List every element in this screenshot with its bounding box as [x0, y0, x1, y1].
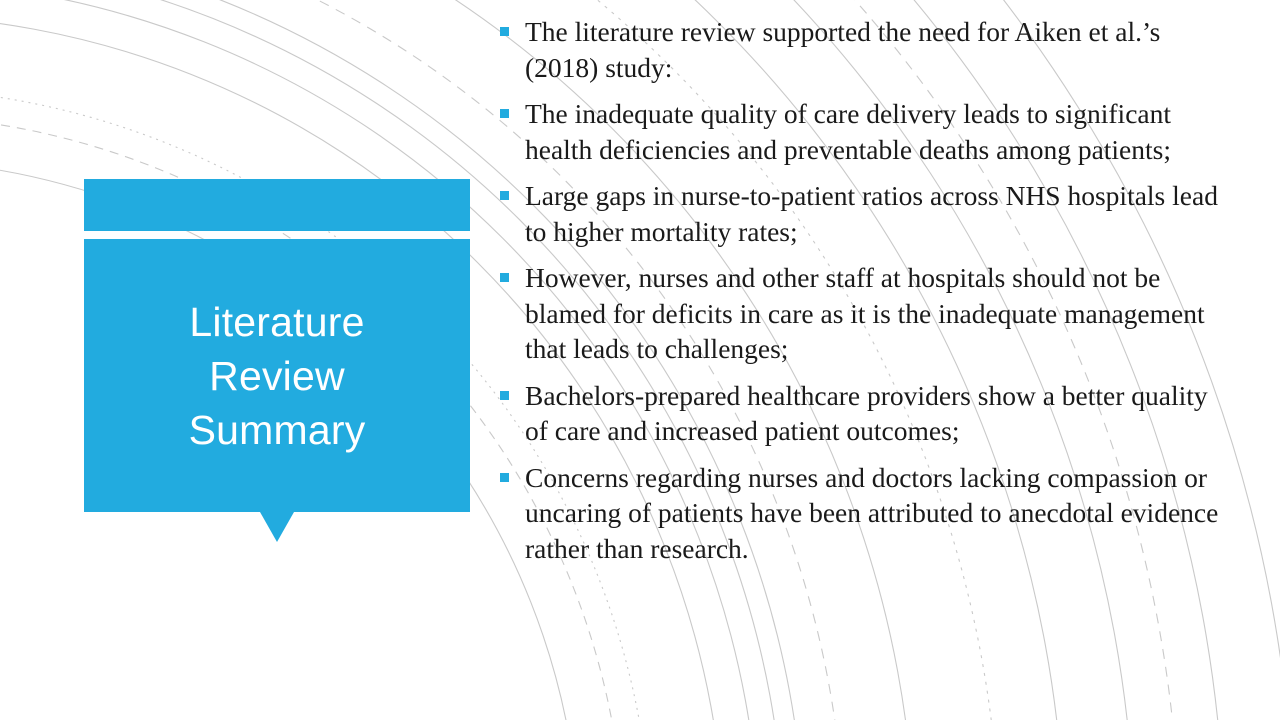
list-item-text: However, nurses and other staff at hospi… — [525, 260, 1224, 367]
title-accent-bar — [84, 179, 470, 231]
title-box: Literature Review Summary — [84, 239, 470, 512]
list-item-text: Large gaps in nurse-to-patient ratios ac… — [525, 178, 1224, 249]
square-bullet-icon — [500, 473, 509, 482]
list-item: The inadequate quality of care delivery … — [498, 96, 1224, 167]
bullet-list: The literature review supported the need… — [498, 14, 1224, 566]
list-item-text: Bachelors-prepared healthcare providers … — [525, 378, 1224, 449]
list-item: Concerns regarding nurses and doctors la… — [498, 460, 1224, 567]
square-bullet-icon — [500, 109, 509, 118]
list-item: Bachelors-prepared healthcare providers … — [498, 378, 1224, 449]
list-item: Large gaps in nurse-to-patient ratios ac… — [498, 178, 1224, 249]
square-bullet-icon — [500, 273, 509, 282]
square-bullet-icon — [500, 27, 509, 36]
list-item-text: The inadequate quality of care delivery … — [525, 96, 1224, 167]
list-item: However, nurses and other staff at hospi… — [498, 260, 1224, 367]
list-item-text: The literature review supported the need… — [525, 14, 1224, 85]
list-item-text: Concerns regarding nurses and doctors la… — [525, 460, 1224, 567]
square-bullet-icon — [500, 391, 509, 400]
title-callout: Literature Review Summary — [84, 179, 470, 512]
callout-pointer-icon — [260, 512, 294, 542]
list-item: The literature review supported the need… — [498, 14, 1224, 85]
square-bullet-icon — [500, 191, 509, 200]
page-title: Literature Review Summary — [189, 295, 366, 457]
title-divider — [84, 231, 470, 239]
slide: Literature Review Summary The literature… — [0, 0, 1280, 720]
